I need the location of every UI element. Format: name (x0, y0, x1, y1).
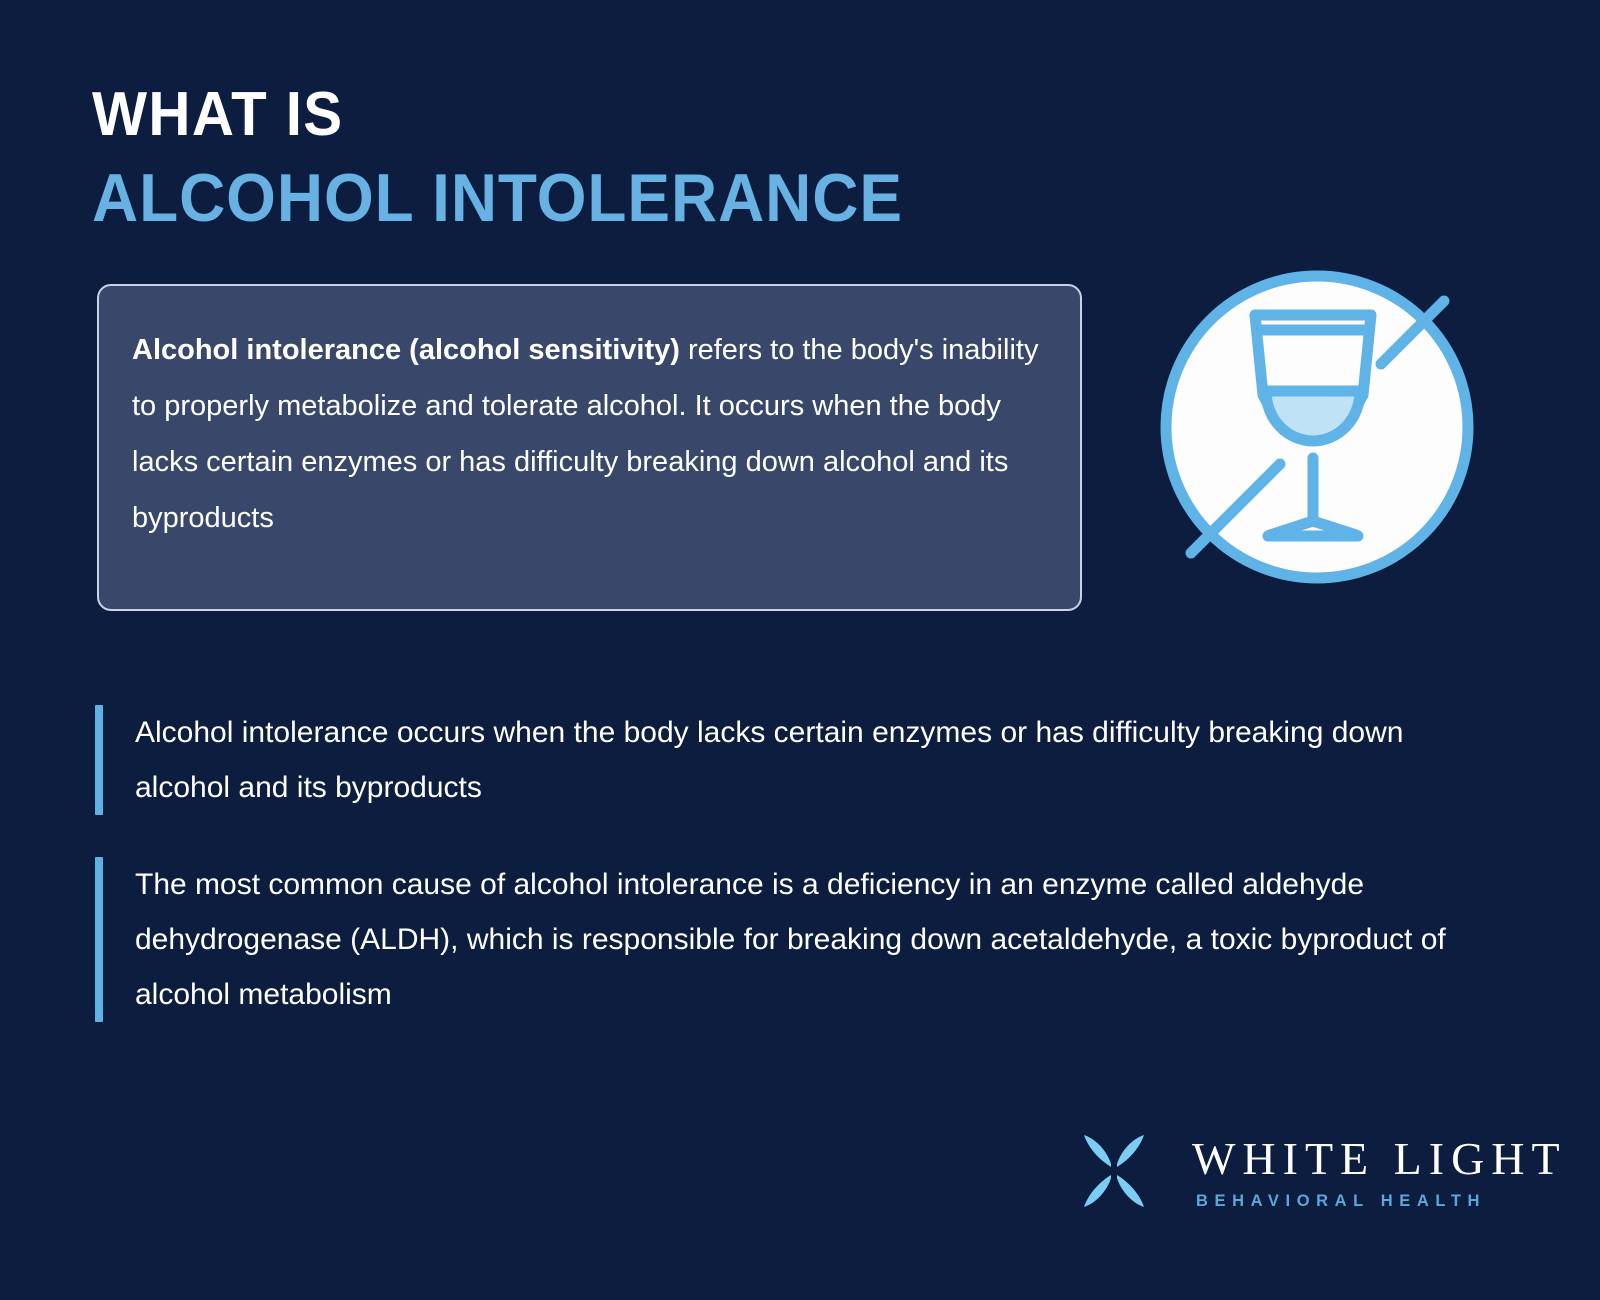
definition-text: Alcohol intolerance (alcohol sensitivity… (132, 322, 1040, 546)
logo-wordmark: WHITE LIGHT BEHAVIORAL HEALTH (1192, 1130, 1567, 1212)
brand-tagline: BEHAVIORAL HEALTH (1196, 1190, 1567, 1212)
page-title-line-1: WHAT IS (92, 82, 1220, 148)
sunburst-logo-icon (1050, 1107, 1178, 1235)
bullet-accent-bar (95, 705, 103, 815)
definition-card: Alcohol intolerance (alcohol sensitivity… (97, 284, 1082, 611)
bullet-text: The most common cause of alcohol intoler… (103, 857, 1515, 1022)
bullet-item: The most common cause of alcohol intoler… (95, 857, 1515, 1022)
bullet-text: Alcohol intolerance occurs when the body… (103, 705, 1435, 815)
brand-name: WHITE LIGHT (1192, 1134, 1567, 1184)
brand-logo: WHITE LIGHT BEHAVIORAL HEALTH (1050, 1103, 1520, 1238)
bullet-accent-bar (95, 857, 103, 1022)
page-title: WHAT IS ALCOHOL INTOLERANCE (92, 82, 1292, 236)
page-title-line-2: ALCOHOL INTOLERANCE (92, 160, 1220, 236)
bullet-item: Alcohol intolerance occurs when the body… (95, 705, 1435, 815)
definition-lead: Alcohol intolerance (alcohol sensitivity… (132, 334, 680, 366)
no-alcohol-icon (1158, 268, 1476, 586)
